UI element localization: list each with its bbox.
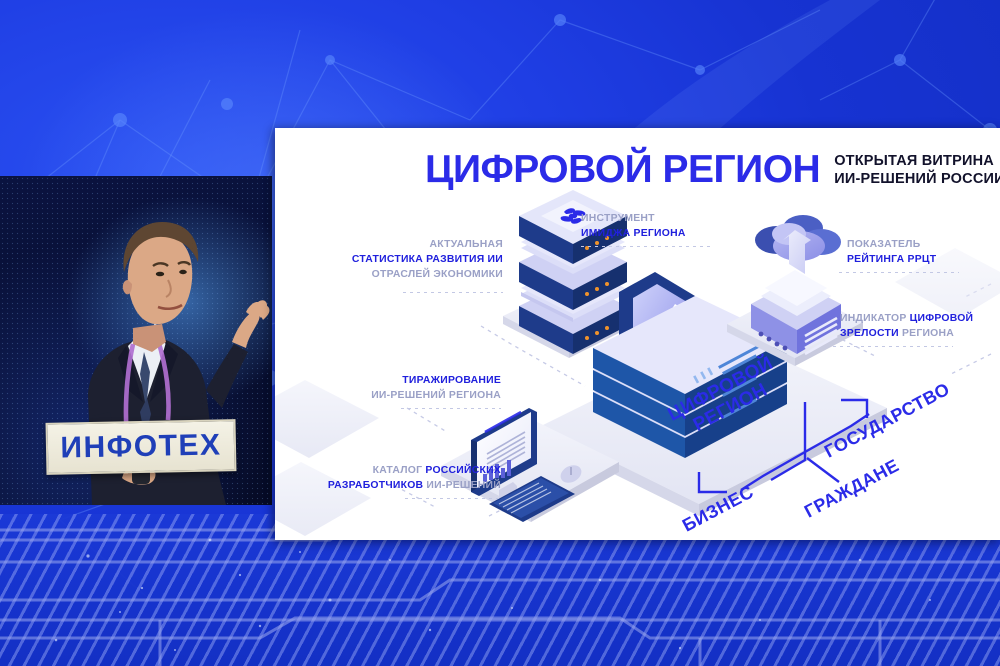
label-maturity-line-2: ЗРЕЛОСТИ РЕГИОНА [840, 327, 1000, 342]
podium-sign: ИНФОТЕХ [46, 419, 237, 475]
label-image-tool: ИНСТРУМЕНТ ИМИДЖА РЕГИОНА [581, 212, 781, 242]
label-rrct-rating: ПОКАЗАТЕЛЬ РЕЙТИНГА РРЦТ [847, 238, 1000, 268]
label-rrct-rule [839, 272, 959, 273]
label-replication-line-1: ТИРАЖИРОВАНИЕ [275, 374, 501, 389]
cross-diagram: ЦИФРОВОЙ РЕГИОН ГОСУДАРСТВО ГРАЖДАНЕ БИЗ… [655, 396, 985, 531]
slide-subtitle: ОТКРЫТАЯ ВИТРИНА ИИ-РЕШЕНИЙ РОССИИ [834, 153, 1000, 188]
label-catalog-rule [405, 498, 501, 499]
label-statistics-line-1: АКТУАЛЬНАЯ [275, 238, 503, 253]
slide-header: ЦИФРОВОЙ РЕГИОН ОТКРЫТАЯ ВИТРИНА ИИ-РЕШЕ… [425, 150, 1000, 189]
label-image-tool-rule [581, 246, 711, 247]
label-image-tool-line-1: ИНСТРУМЕНТ [581, 212, 781, 227]
label-statistics: АКТУАЛЬНАЯ СТАТИСТИКА РАЗВИТИЯ ИИ ОТРАСЛ… [275, 238, 503, 282]
label-replication-line-2: ИИ-РЕШЕНИЙ РЕГИОНА [275, 389, 501, 404]
label-maturity-rule [833, 346, 953, 347]
label-statistics-line-2: СТАТИСТИКА РАЗВИТИЯ ИИ [275, 253, 503, 268]
label-catalog-line-1: КАТАЛОГ РОССИЙСКИХ [275, 464, 501, 479]
label-statistics-line-3: ОТРАСЛЕЙ ЭКОНОМИКИ [275, 268, 503, 283]
subtitle-line-1: ОТКРЫТАЯ ВИТРИНА [834, 153, 1000, 171]
label-rrct-line-2: РЕЙТИНГА РРЦТ [847, 253, 1000, 268]
page-title: ЦИФРОВОЙ РЕГИОН [425, 150, 820, 189]
label-rrct-line-1: ПОКАЗАТЕЛЬ [847, 238, 1000, 253]
podium-sign-label: ИНФОТЕХ [60, 428, 222, 465]
presentation-slide: ЦИФРОВОЙ РЕГИОН ОТКРЫТАЯ ВИТРИНА ИИ-РЕШЕ… [275, 128, 1000, 540]
label-catalog-line-2: РАЗРАБОТЧИКОВ ИИ-РЕШЕНИЙ [275, 479, 501, 494]
label-maturity-line-1: ИНДИКАТОР ЦИФРОВОЙ [840, 312, 1000, 327]
label-image-tool-line-2: ИМИДЖА РЕГИОНА [581, 227, 781, 242]
speaker-video-panel: ИНФОТЕХ [0, 176, 272, 505]
label-developers-catalog: КАТАЛОГ РОССИЙСКИХ РАЗРАБОТЧИКОВ ИИ-РЕШЕ… [275, 464, 501, 494]
label-statistics-rule [403, 292, 503, 293]
label-replication: ТИРАЖИРОВАНИЕ ИИ-РЕШЕНИЙ РЕГИОНА [275, 374, 501, 404]
label-digital-maturity: ИНДИКАТОР ЦИФРОВОЙ ЗРЕЛОСТИ РЕГИОНА [840, 312, 1000, 342]
label-replication-rule [401, 408, 501, 409]
